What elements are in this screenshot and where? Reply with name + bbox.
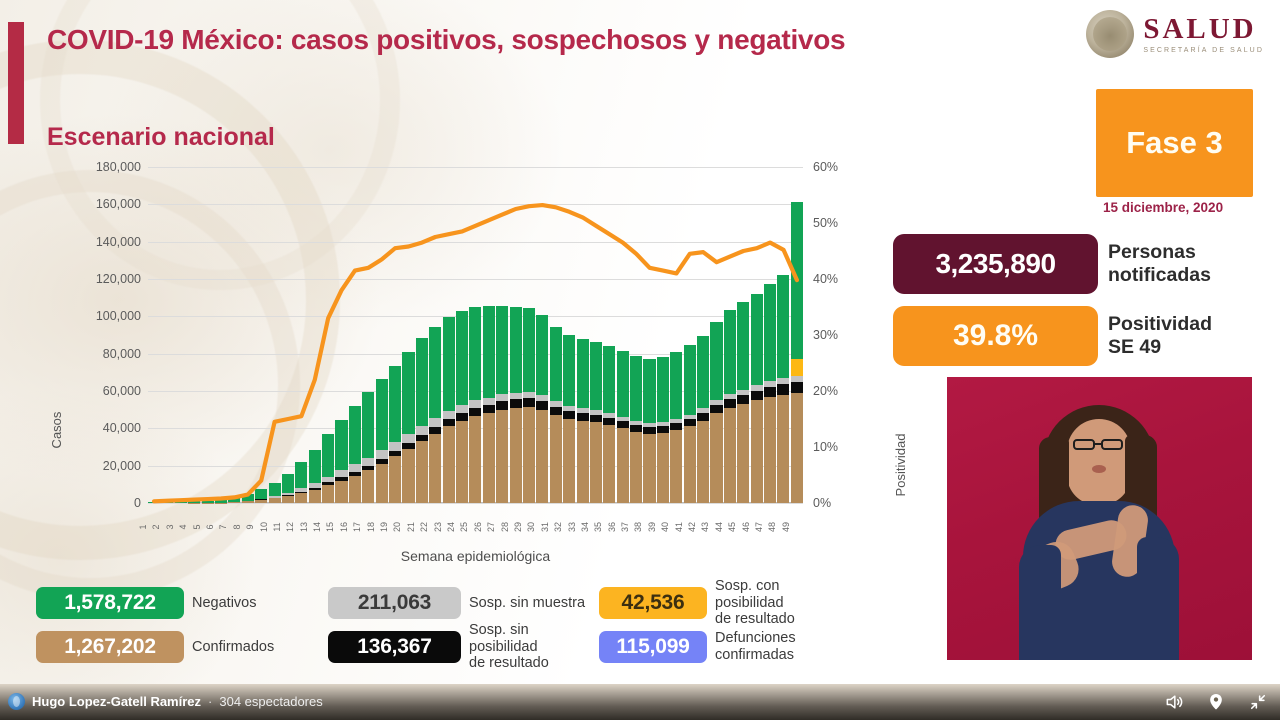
- y-tick-left: 140,000: [69, 235, 141, 249]
- logo-subtitle: SECRETARÍA DE SALUD: [1143, 47, 1264, 54]
- avatar: [8, 693, 25, 710]
- x-tick: 49: [780, 521, 814, 533]
- legend-label: Defuncionesconfirmadas: [715, 630, 835, 663]
- y-tick-left: 40,000: [69, 421, 141, 435]
- x-axis-ticks: 1234567891011121314151617181920212223242…: [148, 510, 803, 544]
- y-tick-left: 100,000: [69, 309, 141, 323]
- broadcaster-name: Hugo Lopez-Gatell Ramírez: [32, 694, 201, 709]
- y-tick-left: 60,000: [69, 384, 141, 398]
- gridline: [148, 503, 803, 504]
- volume-icon[interactable]: [1164, 692, 1184, 712]
- chart: Casos Positividad 020,00040,00060,00080,…: [45, 160, 900, 570]
- legend-label: Confirmados: [192, 639, 320, 656]
- y-axis-label-right: Positividad: [893, 420, 908, 510]
- legend-chip: 42,536: [599, 587, 707, 619]
- phase-date: 15 diciembre, 2020: [1103, 200, 1263, 215]
- legend-chip: 136,367: [328, 631, 461, 663]
- y-tick-right: 50%: [813, 216, 857, 230]
- broadcaster-info[interactable]: Hugo Lopez-Gatell Ramírez · 304 espectad…: [8, 693, 323, 710]
- stat-personas-notificadas: 3,235,890 Personasnotificadas: [893, 234, 1211, 294]
- interpreter-glasses-bridge: [1095, 443, 1101, 445]
- slide-canvas: COVID-19 México: casos positivos, sospec…: [0, 0, 1280, 684]
- y-axis-label-left: Casos: [49, 390, 64, 470]
- stat-label: PositividadSE 49: [1108, 313, 1212, 358]
- logo-title: SALUD: [1143, 15, 1264, 44]
- y-tick-left: 180,000: [69, 160, 141, 174]
- interpreter-glasses: [1073, 439, 1095, 450]
- y-tick-right: 60%: [813, 160, 857, 174]
- stat-label: Personasnotificadas: [1108, 241, 1211, 286]
- y-tick-left: 20,000: [69, 459, 141, 473]
- player-controls: [1164, 692, 1268, 712]
- x-axis-label: Semana epidemiológica: [148, 548, 803, 564]
- accent-bar: [8, 22, 24, 144]
- stat-positividad: 39.8% PositividadSE 49: [893, 306, 1212, 366]
- y-tick-right: 20%: [813, 384, 857, 398]
- section-subtitle: Escenario nacional: [47, 123, 275, 152]
- interpreter-sleeve: [1019, 545, 1061, 660]
- y-tick-left: 160,000: [69, 197, 141, 211]
- interpreter-face: [1067, 419, 1131, 505]
- legend-chip: 1,578,722: [36, 587, 184, 619]
- stat-value: 3,235,890: [893, 234, 1098, 294]
- periscope-icon[interactable]: [1206, 692, 1226, 712]
- y-tick-left: 120,000: [69, 272, 141, 286]
- separator-dot: ·: [208, 694, 212, 709]
- salud-logo: SALUD SECRETARÍA DE SALUD: [1086, 10, 1264, 58]
- legend-label: Sosp. con posibilidadde resultado: [715, 578, 835, 628]
- logo-text: SALUD SECRETARÍA DE SALUD: [1143, 15, 1264, 54]
- national-seal-icon: [1086, 10, 1134, 58]
- y-tick-right: 30%: [813, 328, 857, 342]
- interpreter-mouth: [1092, 465, 1106, 473]
- y-tick-left: 0: [69, 496, 141, 510]
- legend-chip: 1,267,202: [36, 631, 184, 663]
- exit-fullscreen-icon[interactable]: [1248, 692, 1268, 712]
- interpreter-glasses: [1101, 439, 1123, 450]
- legend-chip: 115,099: [599, 631, 707, 663]
- legend-label: Sosp. sin muestra: [469, 595, 591, 612]
- chart-legend: 1,578,722Negativos211,063Sosp. sin muest…: [36, 585, 926, 665]
- legend-label: Negativos: [192, 595, 320, 612]
- y-tick-right: 10%: [813, 440, 857, 454]
- viewer-count: 304 espectadores: [219, 694, 322, 709]
- video-player-bar: Hugo Lopez-Gatell Ramírez · 304 espectad…: [0, 684, 1280, 720]
- y-tick-right: 0%: [813, 496, 857, 510]
- sign-language-interpreter-video[interactable]: [947, 377, 1252, 660]
- interpreter-sleeve: [1137, 537, 1179, 660]
- plot-area: [148, 167, 803, 503]
- stat-value: 39.8%: [893, 306, 1098, 366]
- y-axis-ticks-right: 0%10%20%30%40%50%60%: [813, 160, 863, 510]
- y-tick-left: 80,000: [69, 347, 141, 361]
- y-tick-right: 40%: [813, 272, 857, 286]
- positividad-line: [148, 167, 803, 503]
- legend-label: Sosp. sin posibilidadde resultado: [469, 622, 591, 672]
- page-title: COVID-19 México: casos positivos, sospec…: [47, 24, 845, 56]
- legend-chip: 211,063: [328, 587, 461, 619]
- phase-badge: Fase 3: [1096, 89, 1253, 197]
- y-axis-ticks-left: 020,00040,00060,00080,000100,000120,0001…: [65, 160, 141, 510]
